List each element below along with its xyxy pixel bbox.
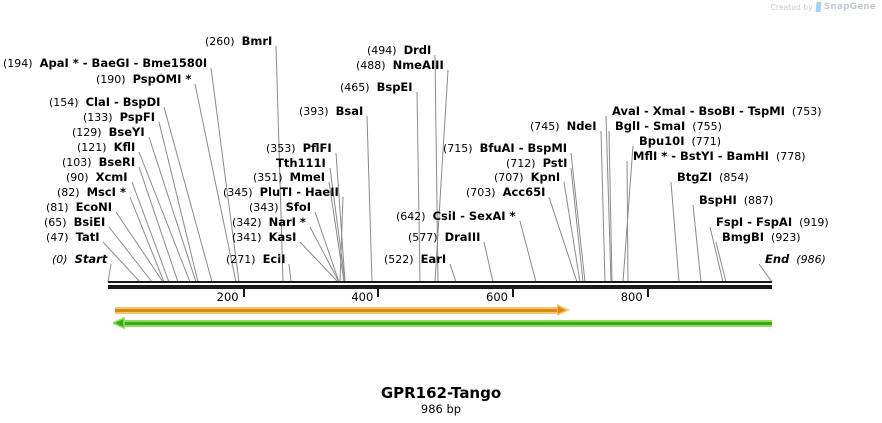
site-position-s778: (778) (769, 150, 806, 163)
site-label-s393[interactable]: (393) BsaI (299, 105, 363, 118)
leader-line-s121 (139, 152, 190, 282)
site-enzyme-names-s342: NarI * (269, 215, 306, 229)
leader-line-s393 (367, 116, 372, 282)
site-position-s65: (65) (44, 216, 74, 229)
site-enzyme-names-s121: KflI (114, 140, 136, 154)
site-label-s342[interactable]: (342) NarI * (232, 216, 306, 229)
site-label-s703[interactable]: (703) Acc65I (466, 186, 545, 199)
site-label-s47[interactable]: (47) TatI (46, 231, 99, 244)
site-position-s260: (260) (205, 35, 242, 48)
leader-line-s271 (289, 264, 291, 282)
site-label-s771[interactable]: Bpu10I (771) (639, 135, 721, 148)
leader-line-s47 (103, 242, 140, 282)
site-enzyme-names-s745: NdeI (567, 119, 597, 133)
snapgene-logo-icon (815, 2, 821, 12)
site-position-s715: (715) (443, 142, 480, 155)
leader-line-s353 (336, 153, 345, 282)
site-enzyme-names-s47: TatI (76, 230, 100, 244)
leader-line-s707 (564, 182, 580, 282)
ruler-tick-600 (512, 289, 514, 297)
site-label-s271[interactable]: (271) EciI (226, 253, 285, 266)
leader-line-s90 (132, 182, 169, 282)
site-position-s854: (854) (712, 171, 749, 184)
site-enzyme-names-s65: BsiEI (74, 215, 106, 229)
site-label-s121[interactable]: (121) KflI (77, 141, 135, 154)
leader-line-s341 (300, 242, 338, 282)
green-feature-arrowhead (113, 316, 127, 330)
site-position-s465: (465) (340, 81, 377, 94)
site-position-s577: (577) (408, 231, 445, 244)
site-enzyme-names-s522: EarI (421, 252, 447, 266)
ruler-tick-200 (243, 289, 245, 297)
site-position-s745: (745) (530, 120, 567, 133)
site-label-s707[interactable]: (707) KpnI (494, 171, 560, 184)
ruler-tick-800 (647, 289, 649, 297)
site-enzyme-names-s712: PstI (543, 156, 568, 170)
watermark-created-by-label: Created by (771, 3, 813, 12)
site-label-s715[interactable]: (715) BfuAI - BspMI (443, 142, 567, 155)
site-enzyme-names-s343: SfoI (286, 200, 311, 214)
sequence-backbone-bar (108, 285, 772, 289)
site-position-s341: (341) (232, 231, 269, 244)
construct-title: GPR162-Tango (0, 384, 882, 402)
leader-line-s494 (435, 55, 438, 282)
site-position-s133: (133) (83, 111, 120, 124)
leader-line-s129 (149, 137, 196, 282)
site-position-s194: (194) (3, 57, 40, 70)
site-position-s0: (0) (52, 253, 75, 266)
site-enzyme-names-s923: BmgBI (722, 230, 764, 244)
leader-line-s854 (671, 182, 679, 282)
site-label-s494[interactable]: (494) DrdI (367, 44, 431, 57)
site-enzyme-names-s190: PspOMI * (133, 72, 192, 86)
site-position-s771: (771) (684, 135, 721, 148)
leader-line-send (759, 264, 772, 282)
site-label-s194[interactable]: (194) ApaI * - BaeGI - Bme1580I (3, 57, 207, 70)
leader-line-s715 (571, 153, 585, 282)
site-position-s345: (345) (223, 186, 260, 199)
site-enzyme-names-s353: PflFI (303, 141, 332, 155)
orange-feature-arrowhead (557, 303, 571, 317)
site-label-s129[interactable]: (129) BseYI (72, 126, 145, 139)
site-label-send[interactable]: End (986) (765, 253, 826, 266)
site-position-s353: (353) (266, 142, 303, 155)
site-enzyme-names-s577: DraIII (445, 230, 481, 244)
site-position-s154: (154) (49, 96, 86, 109)
site-position-s47: (47) (46, 231, 76, 244)
site-enzyme-names-s260: BmrI (242, 34, 273, 48)
site-enzyme-names-s755: BglI - SmaI (615, 119, 685, 133)
site-position-s887: (887) (737, 194, 774, 207)
site-enzyme-names-s103: BseRI (99, 155, 136, 169)
green-feature-arrow-body[interactable] (123, 320, 772, 327)
construct-length-label: 986 bp (0, 402, 882, 416)
site-position-s81: (81) (46, 201, 76, 214)
site-label-s65[interactable]: (65) BsiEI (44, 216, 105, 229)
site-enzyme-names-s154: ClaI - BspDI (86, 95, 161, 109)
site-enzyme-names-s345: PluTI - HaeII (260, 185, 339, 199)
site-position-s82: (82) (57, 186, 87, 199)
site-enzyme-names-s465: BspEI (377, 80, 413, 94)
site-label-s745[interactable]: (745) NdeI (530, 120, 597, 133)
leader-line-s342 (310, 227, 339, 282)
leader-line-s577 (484, 242, 493, 282)
site-position-s923: (923) (764, 231, 801, 244)
watermark-brand-label: SnapGene (824, 2, 876, 12)
site-enzyme-names-s393: BsaI (336, 104, 364, 118)
leader-line-s345 (340, 197, 343, 282)
site-label-s190[interactable]: (190) PspOMI * (96, 73, 191, 86)
site-enzyme-names-s778: MflI * - BstYI - BamHI (633, 149, 769, 163)
leader-line-s771 (623, 146, 633, 282)
site-position-s103: (103) (62, 156, 99, 169)
site-enzyme-names-s753: AvaI - XmaI - BsoBI - TspMI (612, 104, 785, 118)
leader-line-s0 (108, 264, 111, 282)
site-label-s260[interactable]: (260) BmrI (205, 35, 272, 48)
site-label-s0[interactable]: (0) Start (52, 253, 107, 266)
leader-line-s745 (601, 131, 605, 282)
leader-line-s488 (435, 70, 448, 282)
ruler-tick-label-400: 400 (351, 290, 373, 304)
leader-line-s923 (716, 242, 726, 282)
site-enzyme-names-s129: BseYI (109, 125, 145, 139)
site-label-s465[interactable]: (465) BspEI (340, 81, 413, 94)
site-enzyme-names-s341: KasI (269, 230, 297, 244)
site-position-s703: (703) (466, 186, 503, 199)
site-label-s154[interactable]: (154) ClaI - BspDI (49, 96, 160, 109)
leader-line-s194 (211, 68, 239, 282)
site-enzyme-names-s715: BfuAI - BspMI (480, 141, 567, 155)
site-label-s90[interactable]: (90) XcmI (66, 171, 128, 184)
site-label-s522[interactable]: (522) EarI (384, 253, 446, 266)
leader-line-s154 (164, 107, 212, 282)
site-position-s712: (712) (506, 157, 543, 170)
site-position-s121: (121) (77, 141, 114, 154)
site-label-s353[interactable]: (353) PflFI (266, 142, 332, 155)
site-position-s919: (919) (792, 216, 829, 229)
site-position-s707: (707) (494, 171, 531, 184)
site-enzyme-names-send: End (765, 252, 789, 266)
site-label-s919[interactable]: FspI - FspAI (919) (716, 216, 829, 229)
site-label-s82[interactable]: (82) MscI * (57, 186, 126, 199)
site-position-s522: (522) (384, 253, 421, 266)
site-enzyme-names-s887: BspHI (699, 193, 737, 207)
ruler-tick-label-200: 200 (217, 290, 239, 304)
site-position-s753: (753) (785, 105, 822, 118)
leader-line-s753 (606, 116, 611, 282)
plasmid-map-canvas: Created by SnapGene (0) Start(47) TatI(6… (0, 0, 882, 423)
site-label-s854[interactable]: BtgZI (854) (677, 171, 749, 184)
site-position-s343: (343) (249, 201, 286, 214)
leader-line-s343 (315, 212, 339, 282)
leader-line-s522 (450, 264, 456, 282)
site-label-s341[interactable]: (341) KasI (232, 231, 296, 244)
site-enzyme-names-s771: Bpu10I (639, 134, 684, 148)
leader-line-s778 (627, 161, 628, 282)
site-position-s271: (271) (226, 253, 263, 266)
leader-line-s81 (116, 212, 163, 282)
site-label-s642[interactable]: (642) CsiI - SexAI * (396, 210, 516, 223)
ruler-tick-label-800: 800 (621, 290, 643, 304)
site-enzyme-names-s351: MmeI (290, 170, 326, 184)
site-position-s129: (129) (72, 126, 109, 139)
site-label-s353b[interactable]: Tth111I (276, 157, 326, 169)
site-label-s81[interactable]: (81) EcoNI (46, 201, 112, 214)
sequence-backbone-line (108, 281, 772, 283)
site-position-s351: (351) (253, 171, 290, 184)
site-label-s133[interactable]: (133) PspFI (83, 111, 155, 124)
leader-line-s642 (520, 221, 536, 282)
site-position-send: (986) (789, 253, 826, 266)
site-enzyme-names-s82: MscI * (87, 185, 126, 199)
site-label-s712[interactable]: (712) PstI (506, 157, 567, 170)
ruler-tick-label-600: 600 (486, 290, 508, 304)
leader-line-s703 (549, 197, 577, 282)
orange-feature-arrow-body[interactable] (115, 307, 558, 314)
site-label-s488[interactable]: (488) NmeAIII (356, 59, 444, 72)
site-enzyme-names-s353b: Tth111I (276, 156, 326, 170)
site-position-s90: (90) (66, 171, 96, 184)
site-label-s343[interactable]: (343) SfoI (249, 201, 311, 214)
site-enzyme-names-s642: CsiI - SexAI * (433, 209, 516, 223)
site-label-s345[interactable]: (345) PluTI - HaeII (223, 186, 339, 199)
site-enzyme-names-s919: FspI - FspAI (716, 215, 792, 229)
site-label-s753[interactable]: AvaI - XmaI - BsoBI - TspMI (753) (612, 105, 822, 118)
site-enzyme-names-s0: Start (75, 252, 108, 266)
leader-line-s887 (693, 205, 701, 282)
leader-line-s65 (109, 227, 152, 282)
leader-line-s133 (159, 122, 198, 282)
site-label-s351[interactable]: (351) MmeI (253, 171, 325, 184)
leader-line-s103 (139, 167, 178, 282)
snapgene-watermark: Created by SnapGene (771, 2, 876, 12)
site-label-s103[interactable]: (103) BseRI (62, 156, 135, 169)
site-label-s577[interactable]: (577) DraIII (408, 231, 480, 244)
leader-line-s82 (130, 197, 164, 282)
ruler-tick-400 (377, 289, 379, 297)
site-enzyme-names-s194: ApaI * - BaeGI - Bme1580I (40, 56, 208, 70)
site-enzyme-names-s854: BtgZI (677, 170, 712, 184)
site-position-s393: (393) (299, 105, 336, 118)
site-position-s488: (488) (356, 59, 393, 72)
site-enzyme-names-s703: Acc65I (503, 185, 546, 199)
leader-line-s755 (609, 131, 612, 282)
site-position-s642: (642) (396, 210, 433, 223)
site-enzyme-names-s707: KpnI (531, 170, 561, 184)
site-label-s887[interactable]: BspHI (887) (699, 194, 773, 207)
site-enzyme-names-s90: XcmI (96, 170, 128, 184)
site-position-s755: (755) (685, 120, 722, 133)
site-enzyme-names-s494: DrdI (404, 43, 432, 57)
site-position-s342: (342) (232, 216, 269, 229)
site-label-s755[interactable]: BglI - SmaI (755) (615, 120, 722, 133)
site-label-s778[interactable]: MflI * - BstYI - BamHI (778) (633, 150, 806, 163)
site-position-s190: (190) (96, 73, 133, 86)
site-enzyme-names-s488: NmeAIII (393, 58, 444, 72)
site-enzyme-names-s81: EcoNI (76, 200, 112, 214)
site-position-s494: (494) (367, 44, 404, 57)
leader-line-s712 (571, 168, 583, 282)
site-enzyme-names-s271: EciI (263, 252, 286, 266)
site-enzyme-names-s133: PspFI (120, 110, 155, 124)
site-label-s923[interactable]: BmgBI (923) (722, 231, 801, 244)
